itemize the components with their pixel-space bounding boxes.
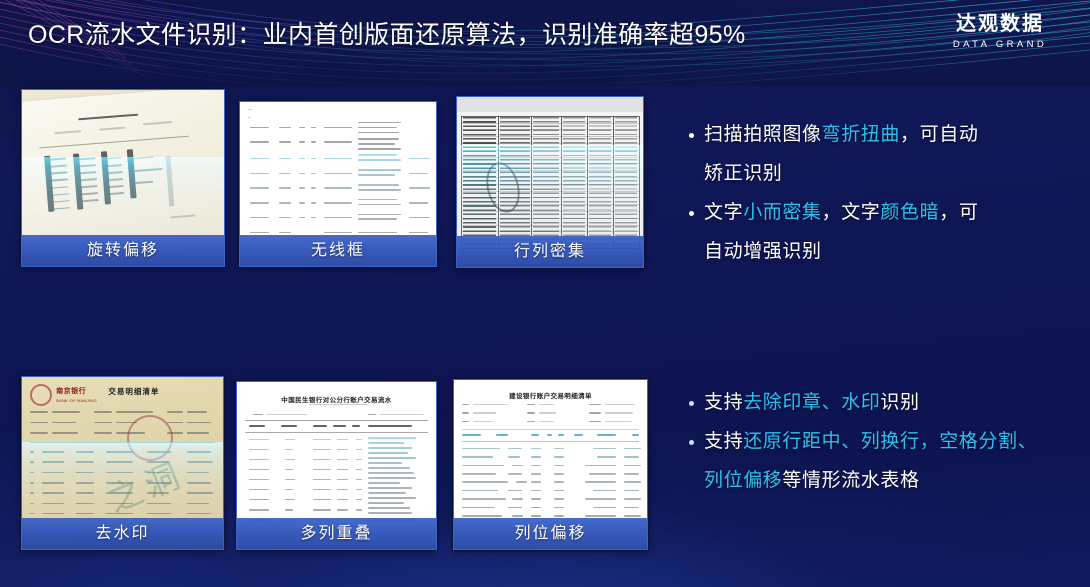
- thumbnail-remove-watermark[interactable]: 南京银行 BANK OF NANJING 交易明细清单: [21, 376, 224, 550]
- bullet-continuation-line: 矫正识别: [688, 154, 1070, 193]
- brand-logo: 达观数据 DATA GRAND: [932, 12, 1068, 51]
- thumbnail-caption: 去水印: [22, 518, 223, 549]
- bullet-text-segment: 支持: [704, 431, 743, 452]
- thumbnail-caption: 无线框: [240, 235, 436, 266]
- bullet-text-highlight: 还原行距中、列换行，空格分割、: [743, 431, 1037, 452]
- thumbnail-rotated-skew[interactable]: 旋转偏移: [21, 89, 225, 267]
- bullet-text-segment: 识别: [880, 392, 919, 413]
- brand-logo-en: DATA GRAND: [932, 39, 1068, 51]
- bullet-text-segment: ，可自动: [900, 124, 978, 145]
- bullet-item: 支持还原行距中、列换行，空格分割、: [688, 422, 1078, 461]
- bullet-item: 文字小而密集，文字颜色暗，可: [688, 193, 1070, 232]
- brand-logo-cn: 达观数据: [932, 12, 1068, 36]
- bullet-text-segment: 自动增强识别: [704, 241, 822, 262]
- bullet-text-highlight: 去除印章、水印: [743, 392, 880, 413]
- bullet-list-group-2: 支持去除印章、水印识别 支持还原行距中、列换行，空格分割、 列位偏移等情形流水表…: [688, 383, 1078, 500]
- bullet-text-highlight: 小而密集: [743, 202, 821, 223]
- thumbnail-borderless-table[interactable]: 无线框: [239, 101, 437, 267]
- page-title: OCR流水文件识别：业内首创版面还原算法，识别准确率超95%: [28, 18, 746, 52]
- bullet-text-highlight: 颜色暗: [880, 202, 939, 223]
- bullet-text-segment: ，文字: [822, 202, 881, 223]
- bullet-continuation-line: 列位偏移等情形流水表格: [688, 461, 1078, 500]
- bullet-text-segment: 矫正识别: [704, 163, 782, 184]
- bullet-text-highlight: 弯折扭曲: [822, 124, 900, 145]
- thumbnail-caption: 行列密集: [457, 236, 643, 267]
- bullet-text-segment: ，可: [939, 202, 978, 223]
- bullet-text-segment: 扫描拍照图像: [704, 124, 822, 145]
- thumbnail-column-offset[interactable]: 建设银行账户交易明细清单: [453, 379, 648, 550]
- thumbnail-overlapping-columns[interactable]: 中国民生银行对公分行账户交易流水: [236, 381, 437, 550]
- thumbnail-caption: 旋转偏移: [22, 235, 224, 266]
- bullet-text-segment: 文字: [704, 202, 743, 223]
- slide-root: OCR流水文件识别：业内首创版面还原算法，识别准确率超95% 达观数据 DATA…: [0, 0, 1090, 587]
- bullet-item: 扫描拍照图像弯折扭曲，可自动: [688, 115, 1070, 154]
- thumbnail-caption: 列位偏移: [454, 518, 647, 549]
- bullet-continuation-line: 自动增强识别: [688, 232, 1070, 271]
- thumbnail-dense-rows-columns[interactable]: 行列密集: [456, 96, 644, 268]
- bullet-list-group-1: 扫描拍照图像弯折扭曲，可自动 矫正识别 文字小而密集，文字颜色暗，可 自动增强识…: [688, 115, 1070, 271]
- bullet-item: 支持去除印章、水印识别: [688, 383, 1078, 422]
- bullet-text-segment: 支持: [704, 392, 743, 413]
- bullet-text-highlight: 列位偏移: [704, 470, 782, 491]
- bullet-text-segment: 等情形流水表格: [782, 470, 919, 491]
- thumbnail-caption: 多列重叠: [237, 518, 436, 549]
